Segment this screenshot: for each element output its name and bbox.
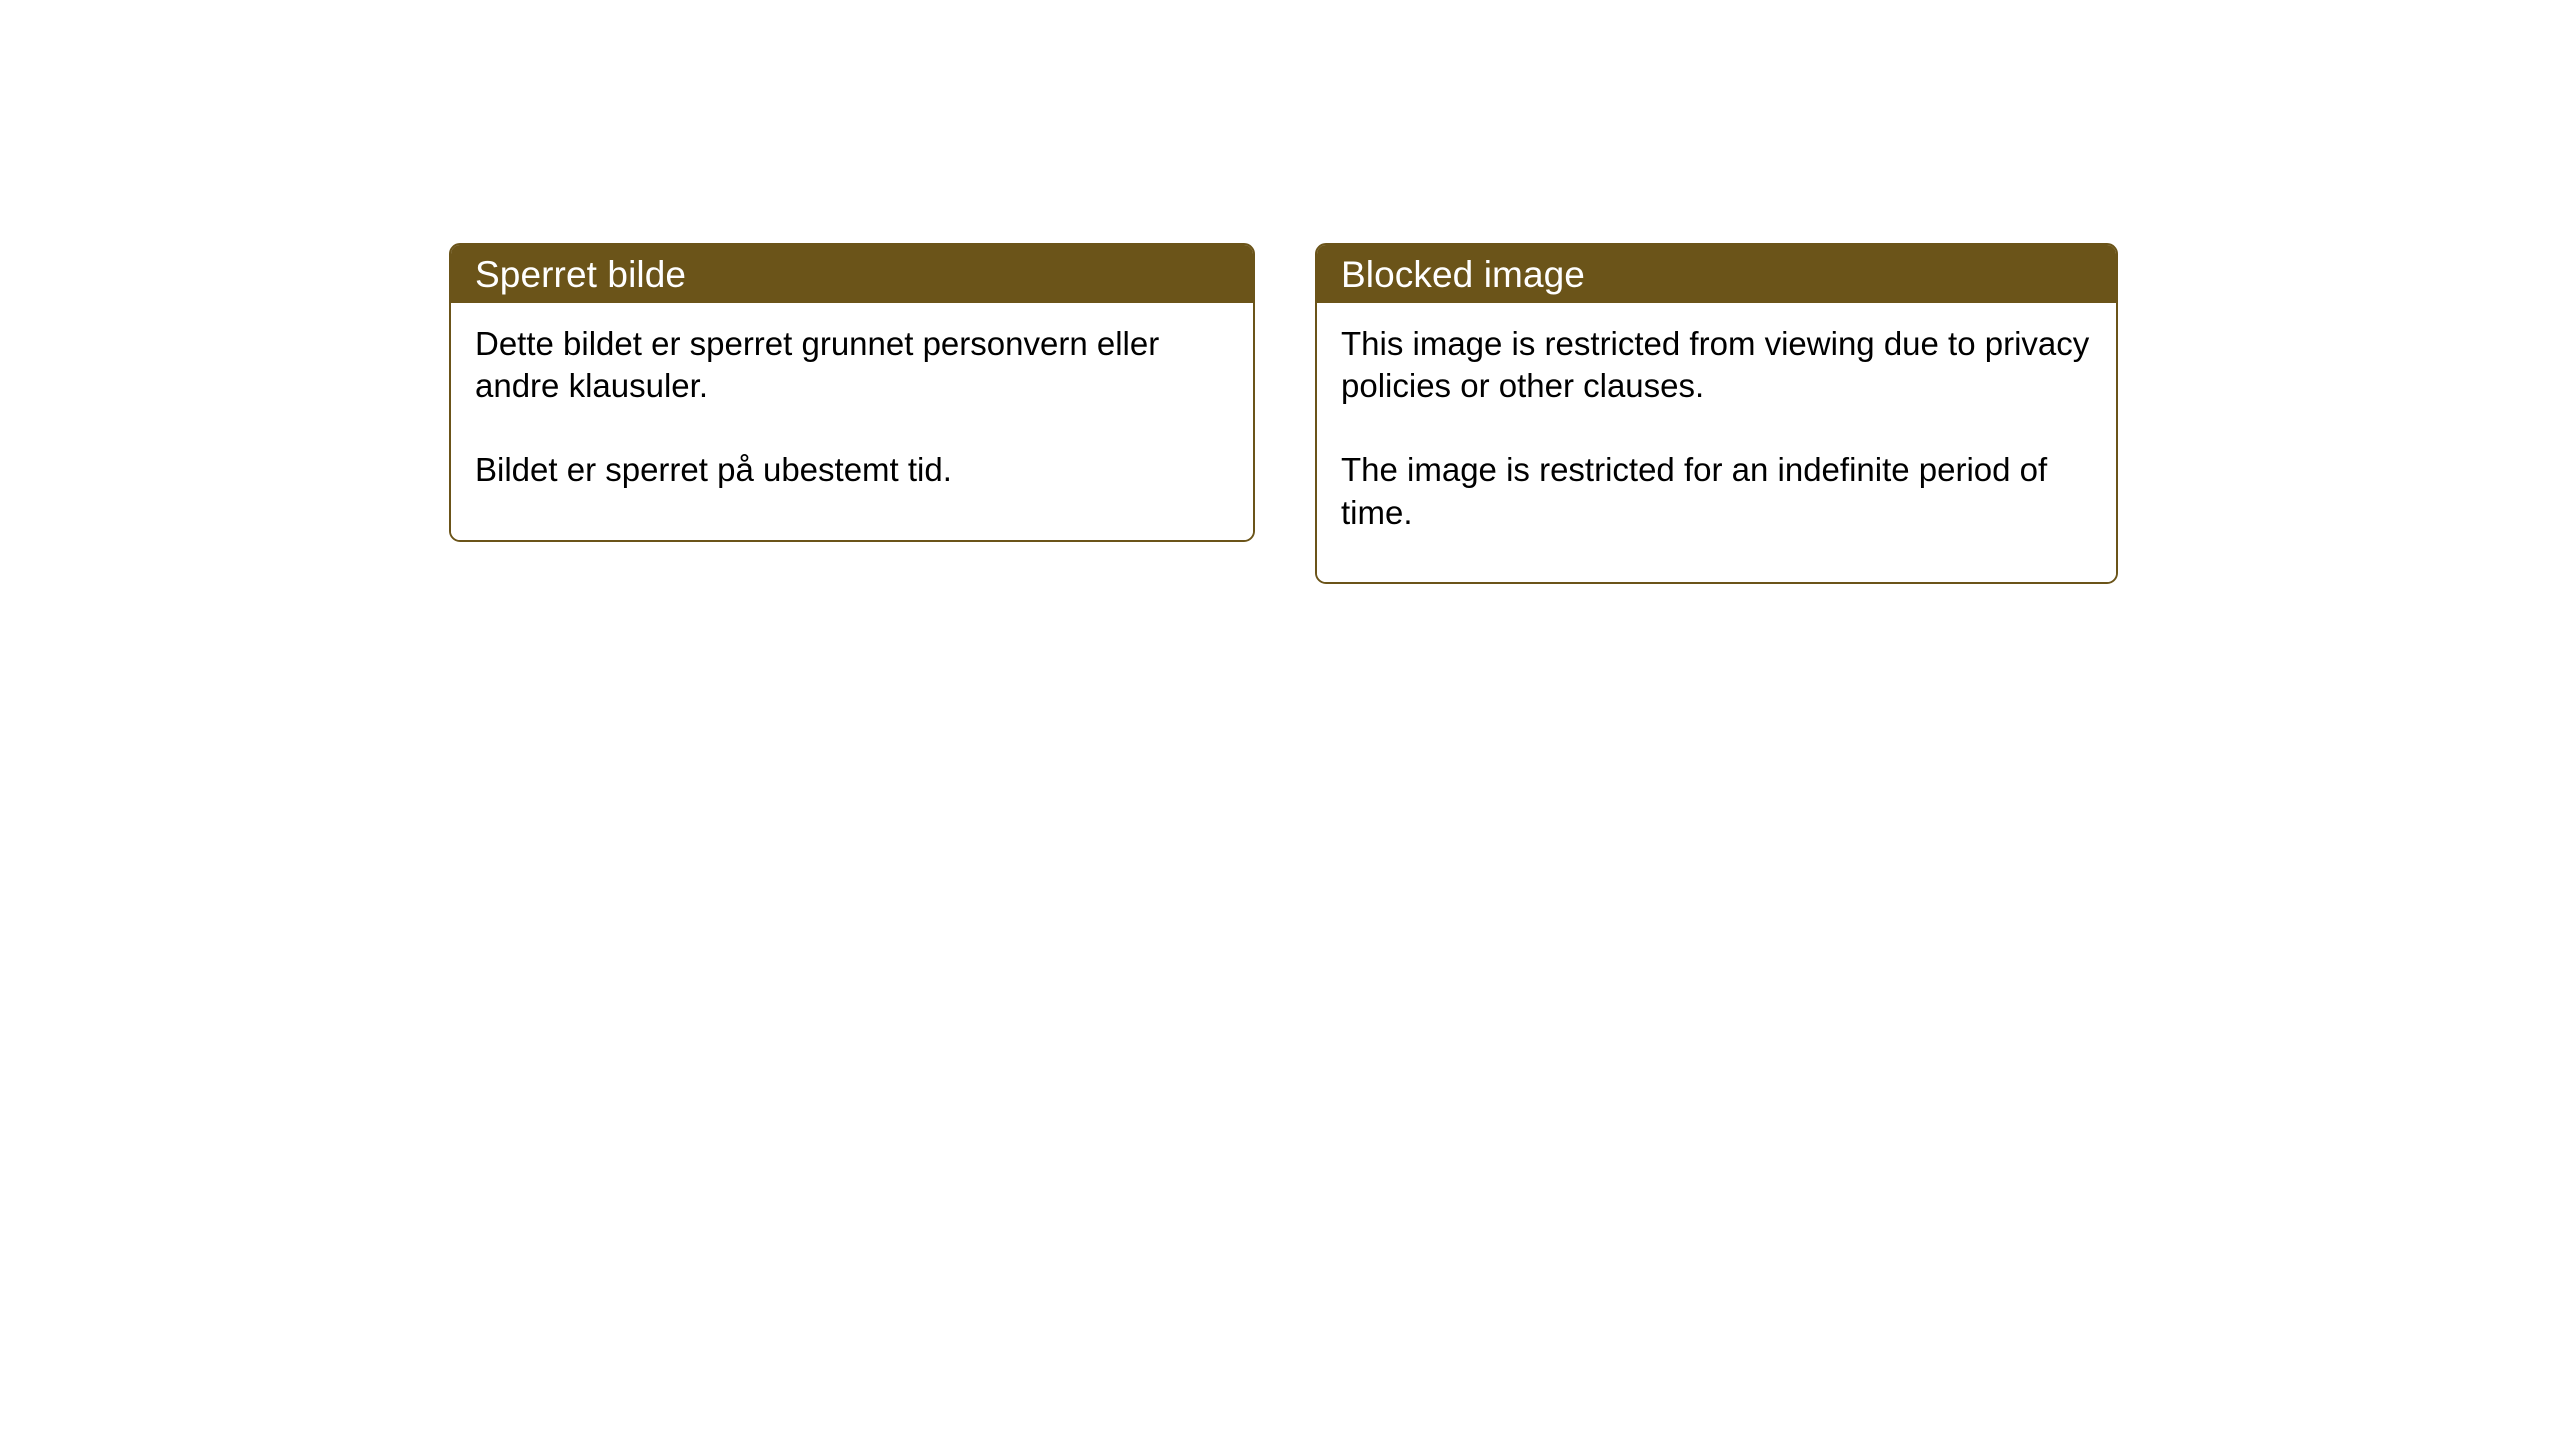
notice-paragraph-no-2: Bildet er sperret på ubestemt tid. xyxy=(475,449,1229,491)
page-root: Sperret bilde Dette bildet er sperret gr… xyxy=(0,0,2560,1440)
notice-header-no: Sperret bilde xyxy=(451,245,1253,303)
notice-title-no: Sperret bilde xyxy=(475,256,686,293)
notice-title-en: Blocked image xyxy=(1341,256,1585,293)
notice-header-en: Blocked image xyxy=(1317,245,2116,303)
notice-paragraph-en-1: This image is restricted from viewing du… xyxy=(1341,323,2092,407)
notice-paragraph-en-2: The image is restricted for an indefinit… xyxy=(1341,449,2092,533)
blocked-image-notice-card-en: Blocked image This image is restricted f… xyxy=(1315,243,2118,584)
notice-body-no: Dette bildet er sperret grunnet personve… xyxy=(451,303,1253,540)
blocked-image-notice-group: Sperret bilde Dette bildet er sperret gr… xyxy=(449,243,2118,584)
blocked-image-notice-card-no: Sperret bilde Dette bildet er sperret gr… xyxy=(449,243,1255,542)
notice-paragraph-no-1: Dette bildet er sperret grunnet personve… xyxy=(475,323,1229,407)
notice-body-en: This image is restricted from viewing du… xyxy=(1317,303,2116,582)
